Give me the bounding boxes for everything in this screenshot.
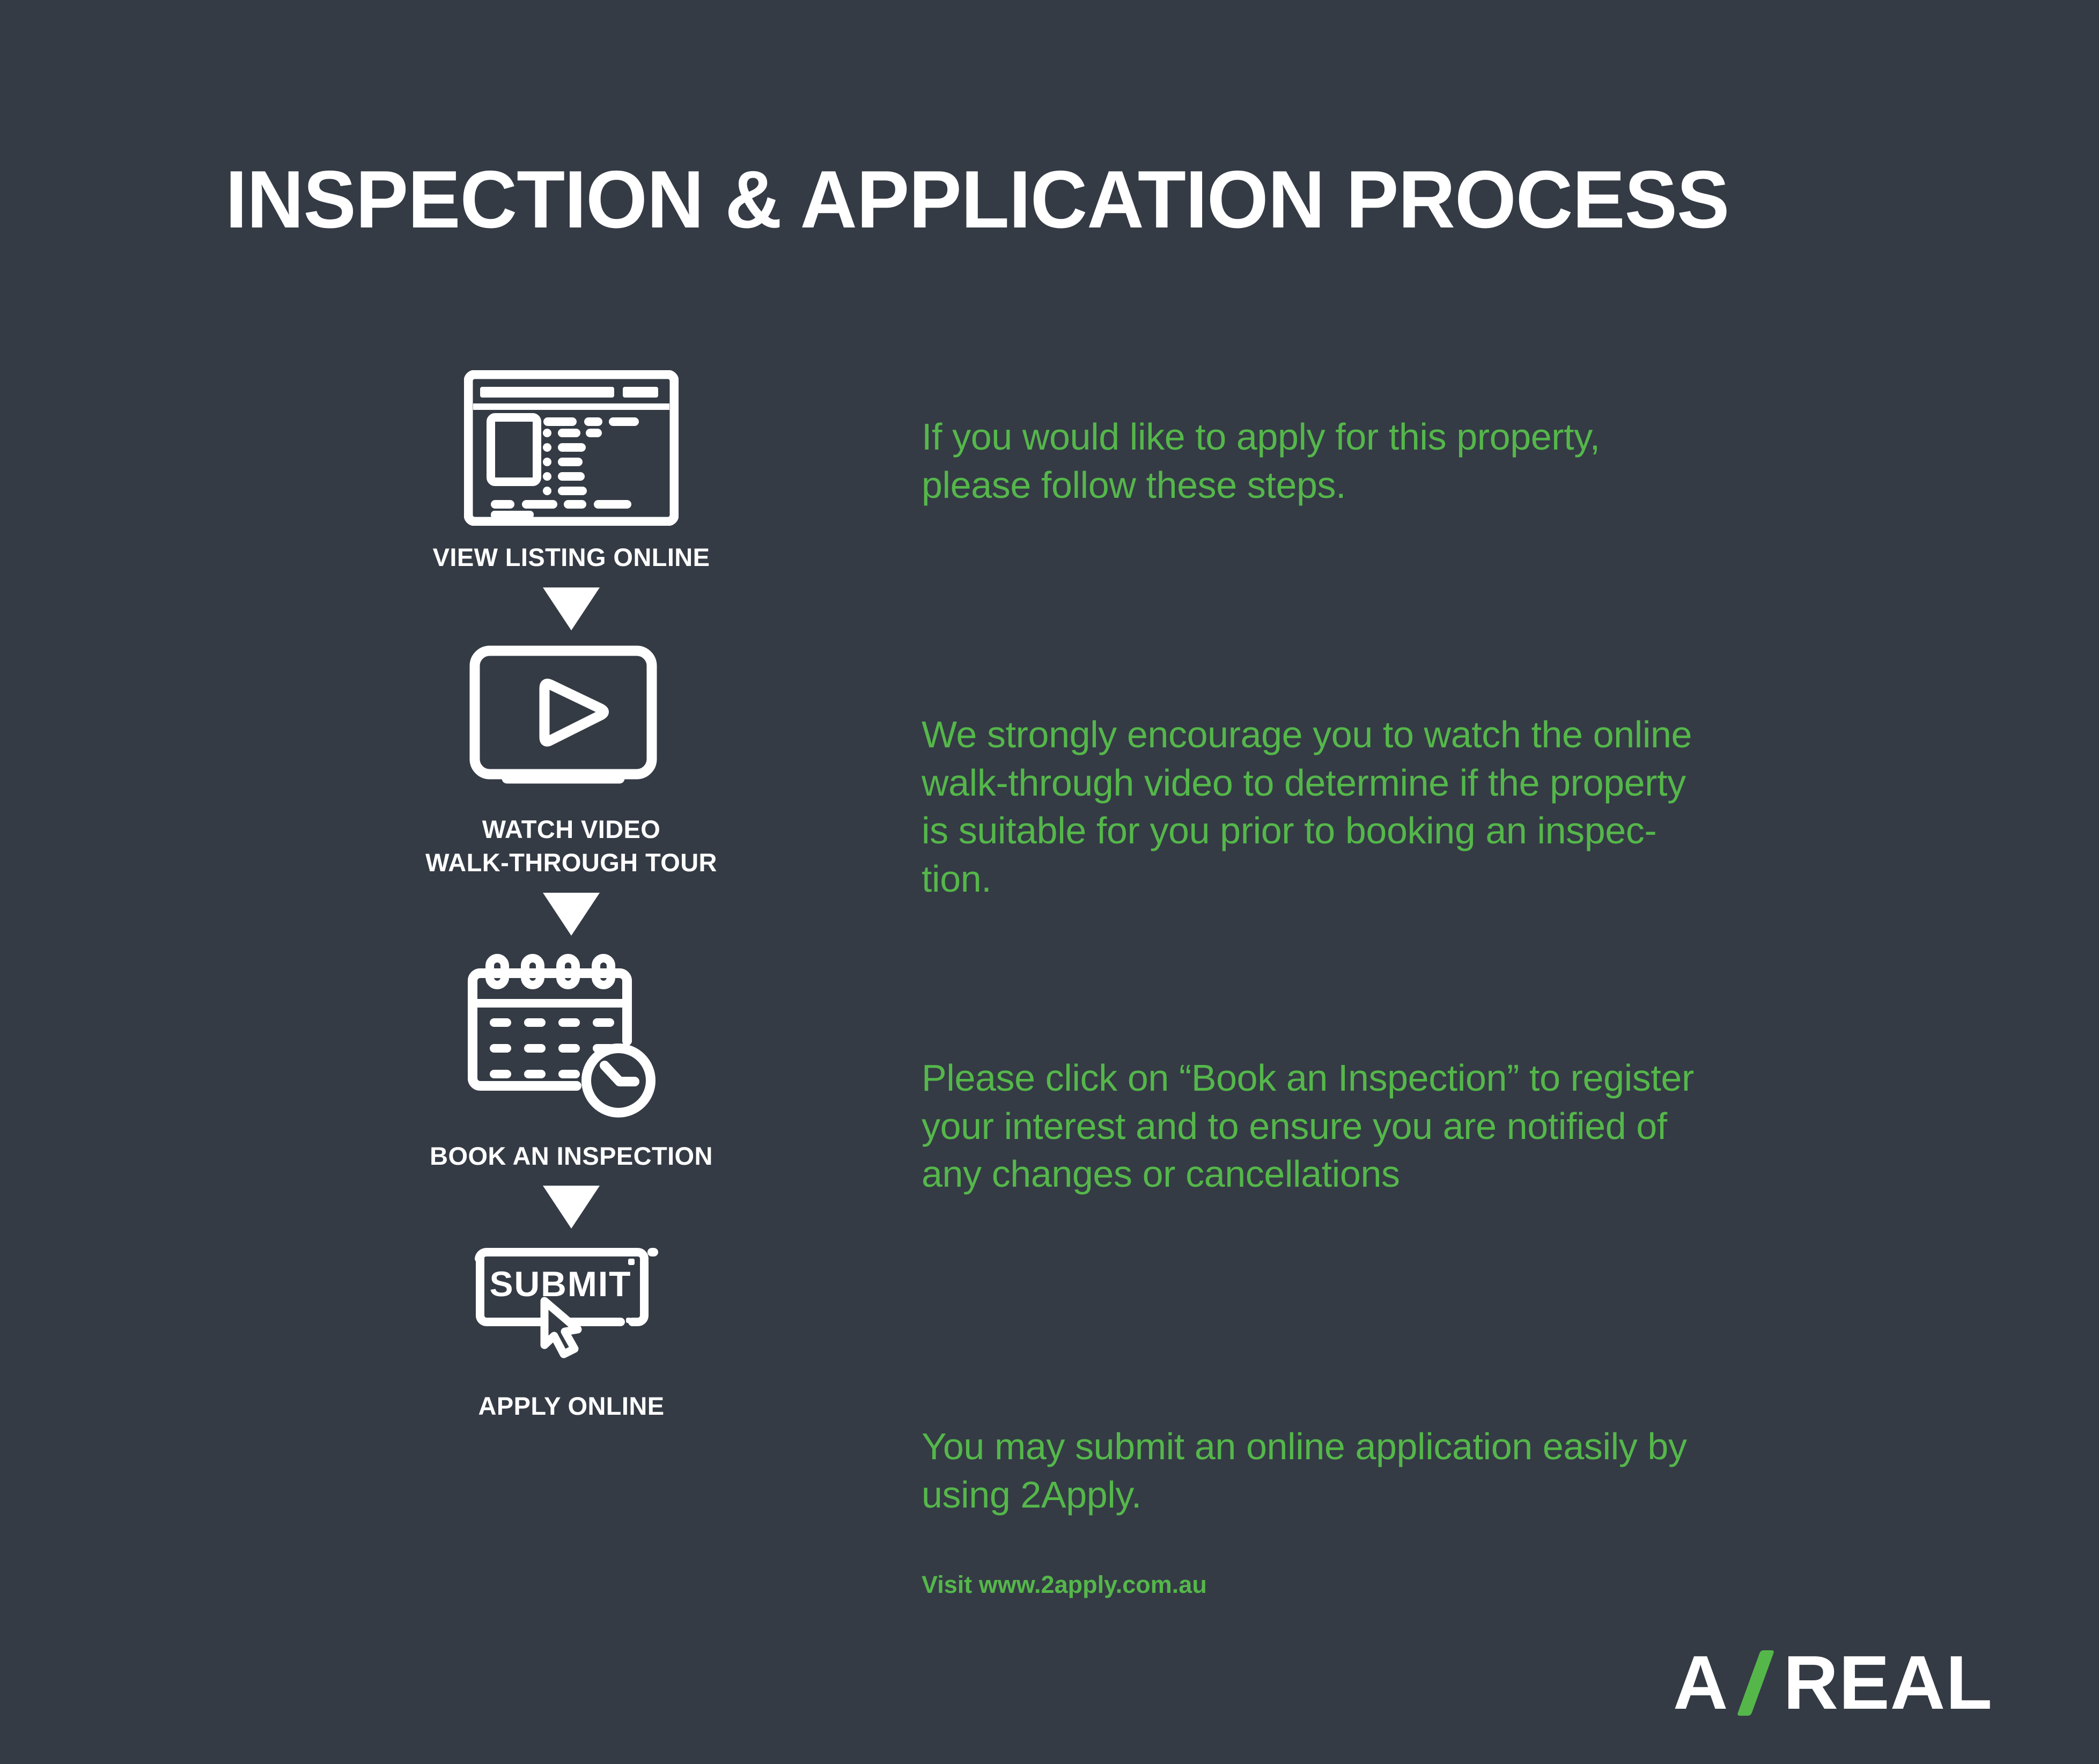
step-label: BOOK AN INSPECTION <box>430 1140 713 1173</box>
video-play-screen-icon <box>464 642 679 798</box>
calendar-clock-icon <box>464 947 679 1124</box>
arrow-down-icon-1 <box>543 587 600 630</box>
submit-icon-text: SUBMIT <box>490 1264 632 1304</box>
step-copy-view-listing: If you would like to apply for this prop… <box>922 413 1941 509</box>
step-watch-video: WATCH VIDEO WALK-THROUGH TOUR <box>333 642 810 880</box>
step-copy-watch-video: We strongly encourage you to watch the o… <box>922 711 1941 903</box>
step-view-listing-online: VIEW LISTING ONLINE <box>333 370 810 575</box>
step-copy-book-inspection: Please click on “Book an Inspection” to … <box>922 1054 1941 1199</box>
step-apply-online: SUBMIT APPLY ONLINE <box>333 1240 810 1423</box>
submit-button-cursor-icon: SUBMIT <box>464 1240 679 1375</box>
step-label: APPLY ONLINE <box>478 1390 665 1423</box>
step-label: WATCH VIDEO WALK-THROUGH TOUR <box>425 813 717 880</box>
arrow-down-icon-2 <box>543 893 600 936</box>
page-title: INSPECTION & APPLICATION PROCESS <box>225 159 1838 240</box>
arrow-down-icon-3 <box>543 1186 600 1229</box>
green-slash-icon <box>1734 1650 1782 1716</box>
process-steps-column: VIEW LISTING ONLINE WATCH VIDEO WALK-THR… <box>333 370 810 1423</box>
logo-letter-a: A <box>1673 1645 1729 1721</box>
logo-word-real: REAL <box>1783 1645 1993 1721</box>
step-book-inspection: BOOK AN INSPECTION <box>333 947 810 1173</box>
infographic-poster: INSPECTION & APPLICATION PROCESS <box>0 0 2099 1764</box>
step-copy-apply-online: You may submit an online application eas… <box>922 1423 1941 1519</box>
areal-logo: A REAL <box>1673 1643 1993 1723</box>
step-label: VIEW LISTING ONLINE <box>433 541 710 575</box>
visit-2apply-link[interactable]: Visit www.2apply.com.au <box>922 1571 1207 1599</box>
browser-listing-icon <box>464 370 679 526</box>
